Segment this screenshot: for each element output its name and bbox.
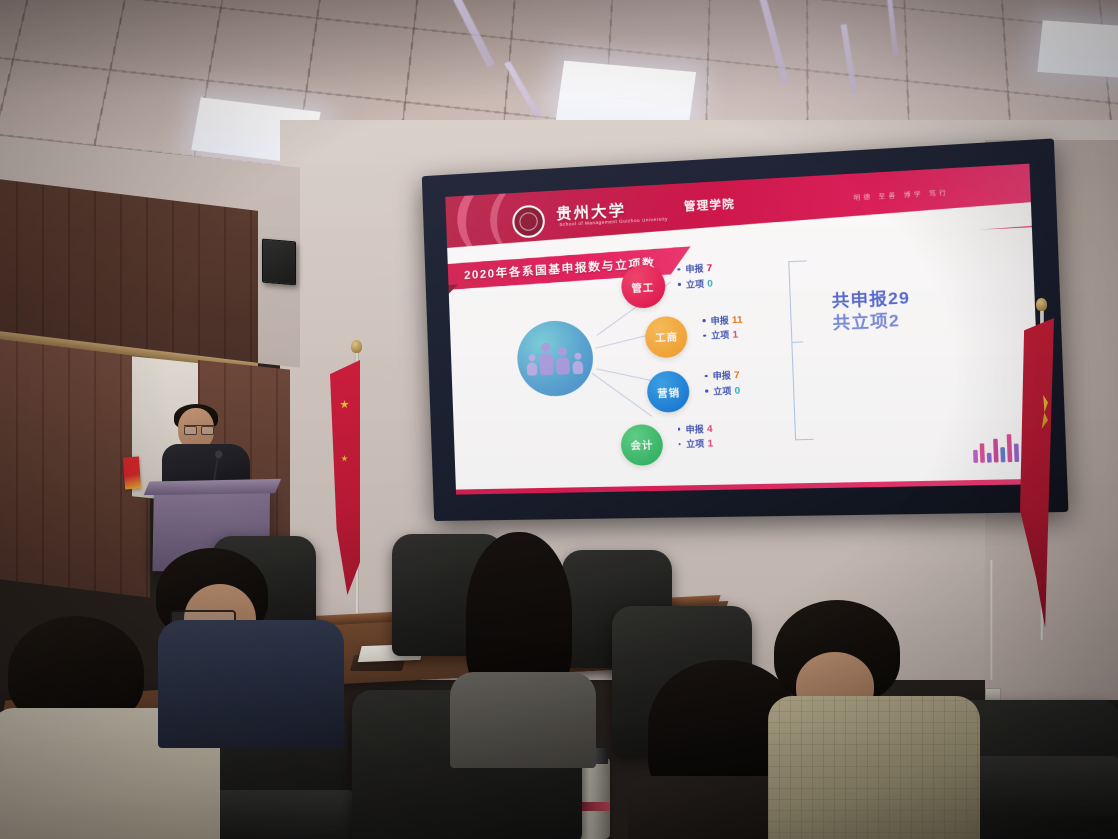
total-approved: 共立项2 (832, 310, 911, 336)
deco-bar (987, 453, 992, 463)
bullet-icon (705, 390, 708, 393)
people-group-icon (526, 341, 583, 375)
total-applied: 共申报29 (831, 287, 910, 313)
department-name-1: 工商 (655, 329, 679, 345)
applied-row-0: 申报 7 (677, 262, 712, 279)
flag-finial-icon (351, 340, 362, 353)
approved-row-2: 立项 0 (705, 384, 741, 400)
department-name-2: 营销 (657, 384, 681, 400)
projection-screen[interactable]: 贵州大学 管理学院 School of Management Guizhou U… (422, 138, 1069, 521)
applied-row-1: 申报 11 (702, 313, 743, 330)
central-people-icon (516, 319, 594, 397)
person-icon (526, 354, 537, 376)
department-bubble-2: 营销 (647, 371, 691, 414)
department-stats-3: 申报 4 立项 1 (678, 422, 714, 453)
deco-bar (1014, 444, 1019, 462)
bullet-icon (678, 283, 681, 286)
department-name-3: 会计 (630, 437, 654, 453)
approved-row-3: 立项 1 (678, 437, 713, 453)
deco-bar (1000, 447, 1005, 462)
deco-bar (993, 439, 998, 463)
person-icon (539, 342, 553, 375)
applied-value-3: 4 (707, 422, 713, 437)
department-stats-1: 申报 11 立项 1 (702, 313, 743, 345)
attendee-right-plaid (756, 600, 992, 839)
approved-value-3: 1 (707, 437, 713, 452)
department-stats-2: 申报 7 立项 0 (704, 369, 740, 401)
presentation-slide: 贵州大学 管理学院 School of Management Guizhou U… (445, 164, 1042, 495)
person-icon (556, 347, 570, 375)
podium-top-surface (144, 479, 281, 495)
school-name: 管理学院 (684, 195, 736, 214)
slide-footer-band (456, 479, 1042, 495)
wall-speaker (262, 239, 296, 286)
applied-value-1: 11 (732, 313, 743, 329)
applied-label: 申报 (685, 422, 704, 436)
attendee-center (452, 532, 602, 762)
bullet-icon (703, 334, 706, 337)
applied-value-0: 7 (706, 262, 712, 278)
department-bubble-3: 会计 (620, 424, 663, 466)
deco-bar (973, 450, 978, 463)
attendee-body (768, 696, 980, 839)
approved-value-0: 0 (707, 277, 713, 292)
approved-value-1: 1 (732, 329, 738, 345)
bullet-icon (705, 375, 708, 378)
attendee-body (450, 672, 596, 768)
attendee-second-left (140, 548, 350, 748)
approved-value-2: 0 (734, 384, 740, 399)
university-motto: 明德 至善 博学 笃行 (853, 187, 949, 202)
approved-label: 立项 (686, 438, 705, 452)
bullet-icon (703, 319, 706, 322)
deco-bar (979, 444, 984, 463)
decorative-bar-chart-icon (972, 434, 1019, 463)
applied-label: 申报 (712, 369, 731, 383)
summary-totals: 共申报29 共立项2 (831, 287, 911, 336)
approved-row-1: 立项 1 (703, 328, 744, 345)
applied-row-3: 申报 4 (678, 422, 713, 438)
approved-row-0: 立项 0 (678, 277, 713, 294)
bullet-icon (678, 268, 681, 271)
ceiling-light-panel (1037, 20, 1118, 79)
deco-bar (1006, 434, 1012, 462)
department-stats-0: 申报 7 立项 0 (677, 262, 713, 294)
approved-label: 立项 (713, 384, 732, 398)
desk-flag (123, 456, 141, 489)
flag-finial-icon (1036, 298, 1047, 311)
bullet-icon (678, 443, 681, 446)
applied-label: 申报 (710, 314, 729, 328)
attendee-body (158, 620, 344, 748)
bullet-icon (678, 428, 681, 431)
applied-label: 申报 (685, 262, 704, 276)
approved-label: 立项 (711, 329, 730, 343)
screen-display-area: 贵州大学 管理学院 School of Management Guizhou U… (445, 164, 1042, 495)
conference-room-photo: 贵州大学 管理学院 School of Management Guizhou U… (0, 0, 1118, 839)
department-bubble-1: 工商 (645, 315, 689, 358)
department-bubble-0: 管工 (620, 264, 665, 309)
person-icon (572, 352, 583, 374)
applied-value-2: 7 (734, 369, 740, 384)
approved-label: 立项 (686, 278, 705, 292)
slide-header-band: 贵州大学 管理学院 School of Management Guizhou U… (445, 164, 1032, 257)
department-name-0: 管工 (631, 279, 655, 295)
summary-brace (788, 261, 813, 441)
glasses-icon (184, 425, 214, 433)
applied-row-2: 申报 7 (704, 369, 740, 385)
